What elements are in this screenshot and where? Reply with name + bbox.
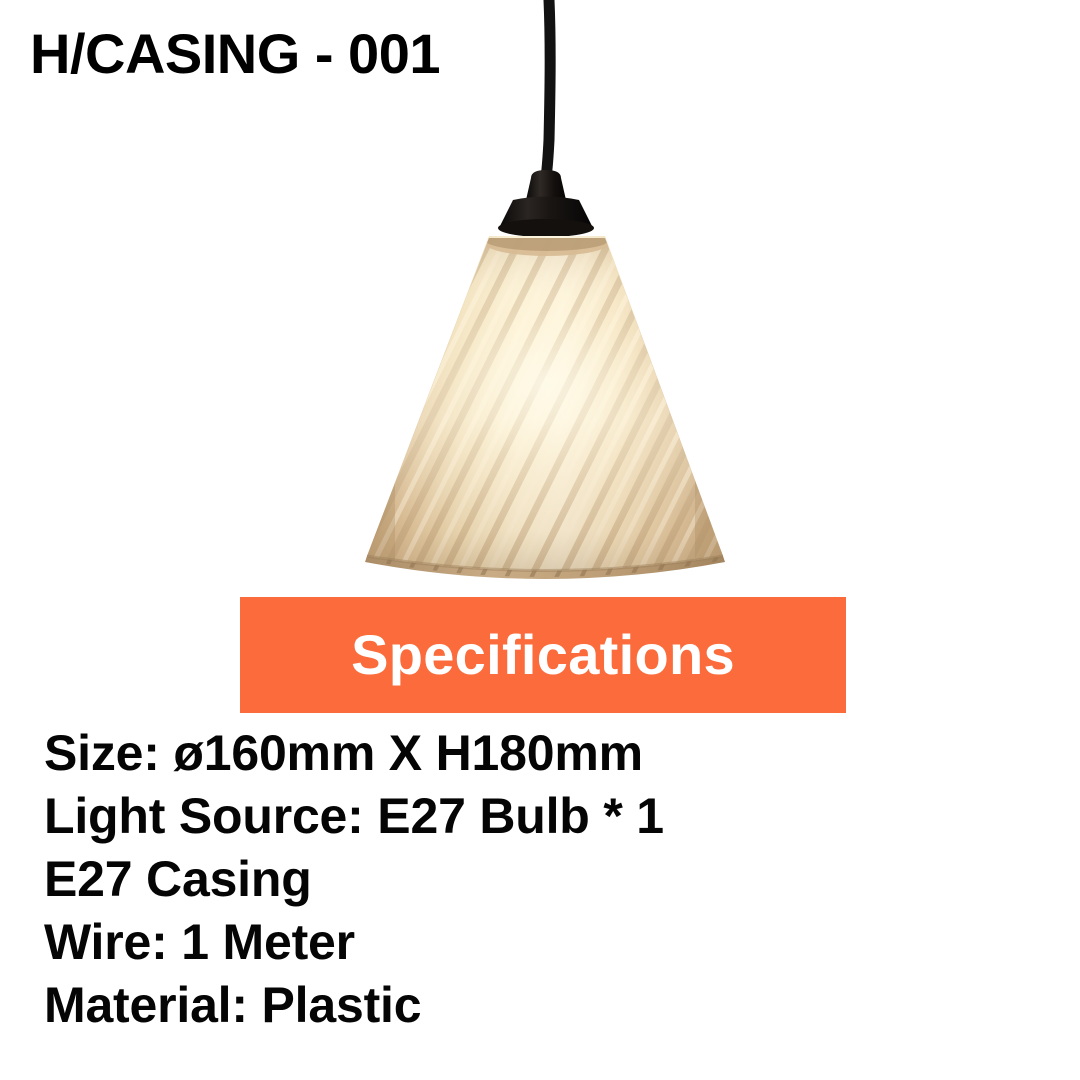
cord-grip (526, 170, 566, 203)
spec-line-size: Size: ø160mm X H180mm (44, 722, 1044, 785)
specifications-list: Size: ø160mm X H180mm Light Source: E27 … (44, 722, 1044, 1037)
page-title: H/CASING - 001 (30, 23, 440, 85)
socket-collar (498, 219, 594, 237)
specifications-banner: Specifications (240, 597, 846, 713)
lamp-cord (546, 0, 550, 178)
pendant-lamp-image (0, 0, 1080, 600)
specifications-banner-label: Specifications (351, 627, 735, 683)
shade-bottom-rim (365, 540, 725, 600)
spec-line-casing: E27 Casing (44, 848, 1044, 911)
lamp-socket (500, 197, 592, 232)
product-spec-card: H/CASING - 001 (0, 0, 1080, 1080)
spec-line-wire: Wire: 1 Meter (44, 911, 1044, 974)
spec-line-material: Material: Plastic (44, 974, 1044, 1037)
lamp-shade (210, 180, 940, 600)
spec-line-light-source: Light Source: E27 Bulb * 1 (44, 785, 1044, 848)
shade-top-ring (485, 229, 609, 256)
shade-ribs (210, 180, 940, 600)
